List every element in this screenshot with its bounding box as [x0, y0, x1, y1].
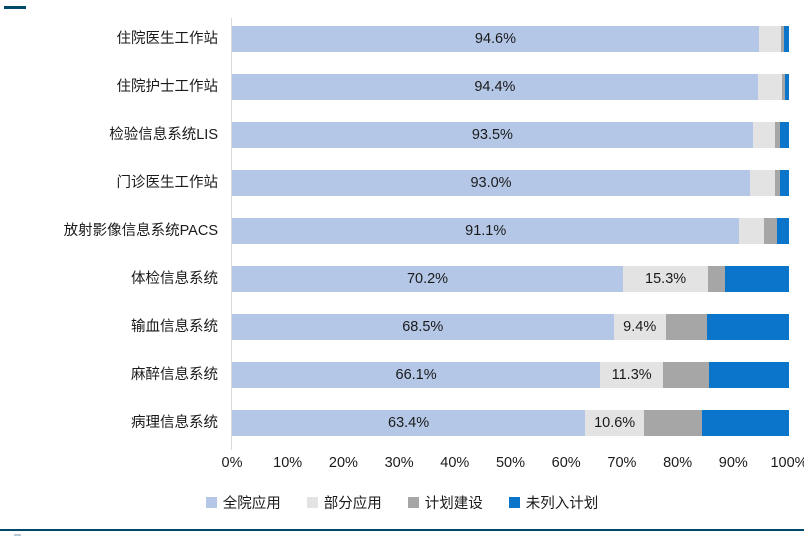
x-tick-label: 100%	[770, 452, 804, 474]
legend-item[interactable]: 计划建设	[408, 492, 483, 513]
bar-segment-未列入计划	[777, 218, 789, 244]
bar-segment-计划建设	[666, 314, 707, 340]
x-tick-label: 10%	[273, 452, 302, 474]
bar-segment-计划建设	[708, 266, 725, 292]
x-axis-tick-labels: 0%10%20%30%40%50%60%70%80%90%100%	[232, 452, 789, 474]
footer-mark	[14, 534, 21, 536]
stacked-bar: 70.2%15.3%	[232, 266, 789, 292]
data-label: 66.1%	[396, 362, 437, 388]
x-tick-label: 70%	[607, 452, 636, 474]
data-label: 70.2%	[407, 266, 448, 292]
x-tick-label: 0%	[222, 452, 243, 474]
plot-area: 住院医生工作站94.6%住院护士工作站94.4%检验信息系统LIS93.5%门诊…	[232, 18, 789, 450]
legend-label: 部分应用	[324, 492, 382, 513]
data-label: 94.6%	[475, 26, 516, 52]
legend-label: 计划建设	[425, 492, 483, 513]
bar-segment-未列入计划	[784, 26, 789, 52]
category-label: 门诊医生工作站	[117, 170, 219, 196]
data-label: 93.5%	[472, 122, 513, 148]
legend-label: 未列入计划	[526, 492, 599, 513]
x-tick-label: 60%	[552, 452, 581, 474]
legend-item[interactable]: 未列入计划	[509, 492, 599, 513]
data-label: 9.4%	[623, 314, 656, 340]
top-accent-rule	[4, 6, 26, 9]
stacked-bar: 68.5%9.4%	[232, 314, 789, 340]
x-tick-label: 90%	[719, 452, 748, 474]
data-label: 15.3%	[645, 266, 686, 292]
bar-segment-全院应用: 68.5%	[232, 314, 614, 340]
bar-row: 放射影像信息系统PACS91.1%	[232, 218, 789, 244]
category-label: 麻醉信息系统	[131, 362, 218, 388]
bar-segment-全院应用: 93.5%	[232, 122, 753, 148]
bar-segment-部分应用: 11.3%	[600, 362, 663, 388]
stacked-bar: 94.4%	[232, 74, 789, 100]
category-label: 体检信息系统	[131, 266, 218, 292]
bar-segment-全院应用: 93.0%	[232, 170, 750, 196]
bar-segment-计划建设	[764, 218, 776, 244]
bar-segment-未列入计划	[707, 314, 789, 340]
category-label: 病理信息系统	[131, 410, 218, 436]
category-label: 输血信息系统	[131, 314, 218, 340]
legend-item[interactable]: 部分应用	[307, 492, 382, 513]
data-label: 91.1%	[465, 218, 506, 244]
bar-segment-部分应用: 15.3%	[623, 266, 708, 292]
bar-row: 住院医生工作站94.6%	[232, 26, 789, 52]
bar-segment-未列入计划	[725, 266, 789, 292]
bar-row: 输血信息系统68.5%9.4%	[232, 314, 789, 340]
bar-segment-计划建设	[644, 410, 702, 436]
bar-segment-部分应用	[739, 218, 764, 244]
bar-row: 体检信息系统70.2%15.3%	[232, 266, 789, 292]
data-label: 10.6%	[594, 410, 635, 436]
stacked-bar: 93.5%	[232, 122, 789, 148]
legend-label: 全院应用	[223, 492, 281, 513]
category-label: 检验信息系统LIS	[109, 122, 218, 148]
bar-row: 住院护士工作站94.4%	[232, 74, 789, 100]
bar-segment-全院应用: 66.1%	[232, 362, 600, 388]
x-tick-label: 50%	[496, 452, 525, 474]
category-label: 放射影像信息系统PACS	[64, 218, 218, 244]
stacked-bar: 63.4%10.6%	[232, 410, 789, 436]
bar-row: 检验信息系统LIS93.5%	[232, 122, 789, 148]
legend-item[interactable]: 全院应用	[206, 492, 281, 513]
legend-swatch-icon	[307, 497, 318, 508]
chart-legend: 全院应用部分应用计划建设未列入计划	[0, 492, 804, 513]
bar-segment-全院应用: 94.6%	[232, 26, 759, 52]
bar-segment-全院应用: 70.2%	[232, 266, 623, 292]
bar-segment-未列入计划	[709, 362, 789, 388]
bar-segment-全院应用: 91.1%	[232, 218, 739, 244]
category-label: 住院医生工作站	[117, 26, 219, 52]
legend-swatch-icon	[509, 497, 520, 508]
bar-segment-部分应用	[759, 26, 781, 52]
bar-segment-部分应用: 9.4%	[614, 314, 666, 340]
chart-figure: 住院医生工作站94.6%住院护士工作站94.4%检验信息系统LIS93.5%门诊…	[0, 0, 804, 540]
data-label: 93.0%	[470, 170, 511, 196]
data-label: 11.3%	[612, 362, 652, 388]
bar-segment-部分应用: 10.6%	[585, 410, 644, 436]
bar-row: 病理信息系统63.4%10.6%	[232, 410, 789, 436]
data-label: 94.4%	[474, 74, 515, 100]
bar-segment-未列入计划	[702, 410, 789, 436]
x-tick-label: 30%	[385, 452, 414, 474]
bar-segment-计划建设	[663, 362, 709, 388]
bar-segment-未列入计划	[780, 170, 789, 196]
stacked-bar: 94.6%	[232, 26, 789, 52]
x-tick-label: 80%	[663, 452, 692, 474]
bar-segment-未列入计划	[780, 122, 789, 148]
stacked-bar: 66.1%11.3%	[232, 362, 789, 388]
bar-segment-全院应用: 94.4%	[232, 74, 758, 100]
bar-row: 麻醉信息系统66.1%11.3%	[232, 362, 789, 388]
bar-row: 门诊医生工作站93.0%	[232, 170, 789, 196]
x-tick-label: 40%	[440, 452, 469, 474]
bar-segment-全院应用: 63.4%	[232, 410, 585, 436]
category-label: 住院护士工作站	[117, 74, 219, 100]
stacked-bar: 91.1%	[232, 218, 789, 244]
stacked-bar: 93.0%	[232, 170, 789, 196]
x-tick-label: 20%	[329, 452, 358, 474]
data-label: 63.4%	[388, 410, 429, 436]
bar-segment-未列入计划	[785, 74, 789, 100]
legend-swatch-icon	[206, 497, 217, 508]
bar-segment-部分应用	[750, 170, 775, 196]
bar-segment-部分应用	[753, 122, 775, 148]
bar-segment-部分应用	[758, 74, 783, 100]
legend-swatch-icon	[408, 497, 419, 508]
data-label: 68.5%	[402, 314, 443, 340]
footer-divider	[0, 529, 804, 531]
